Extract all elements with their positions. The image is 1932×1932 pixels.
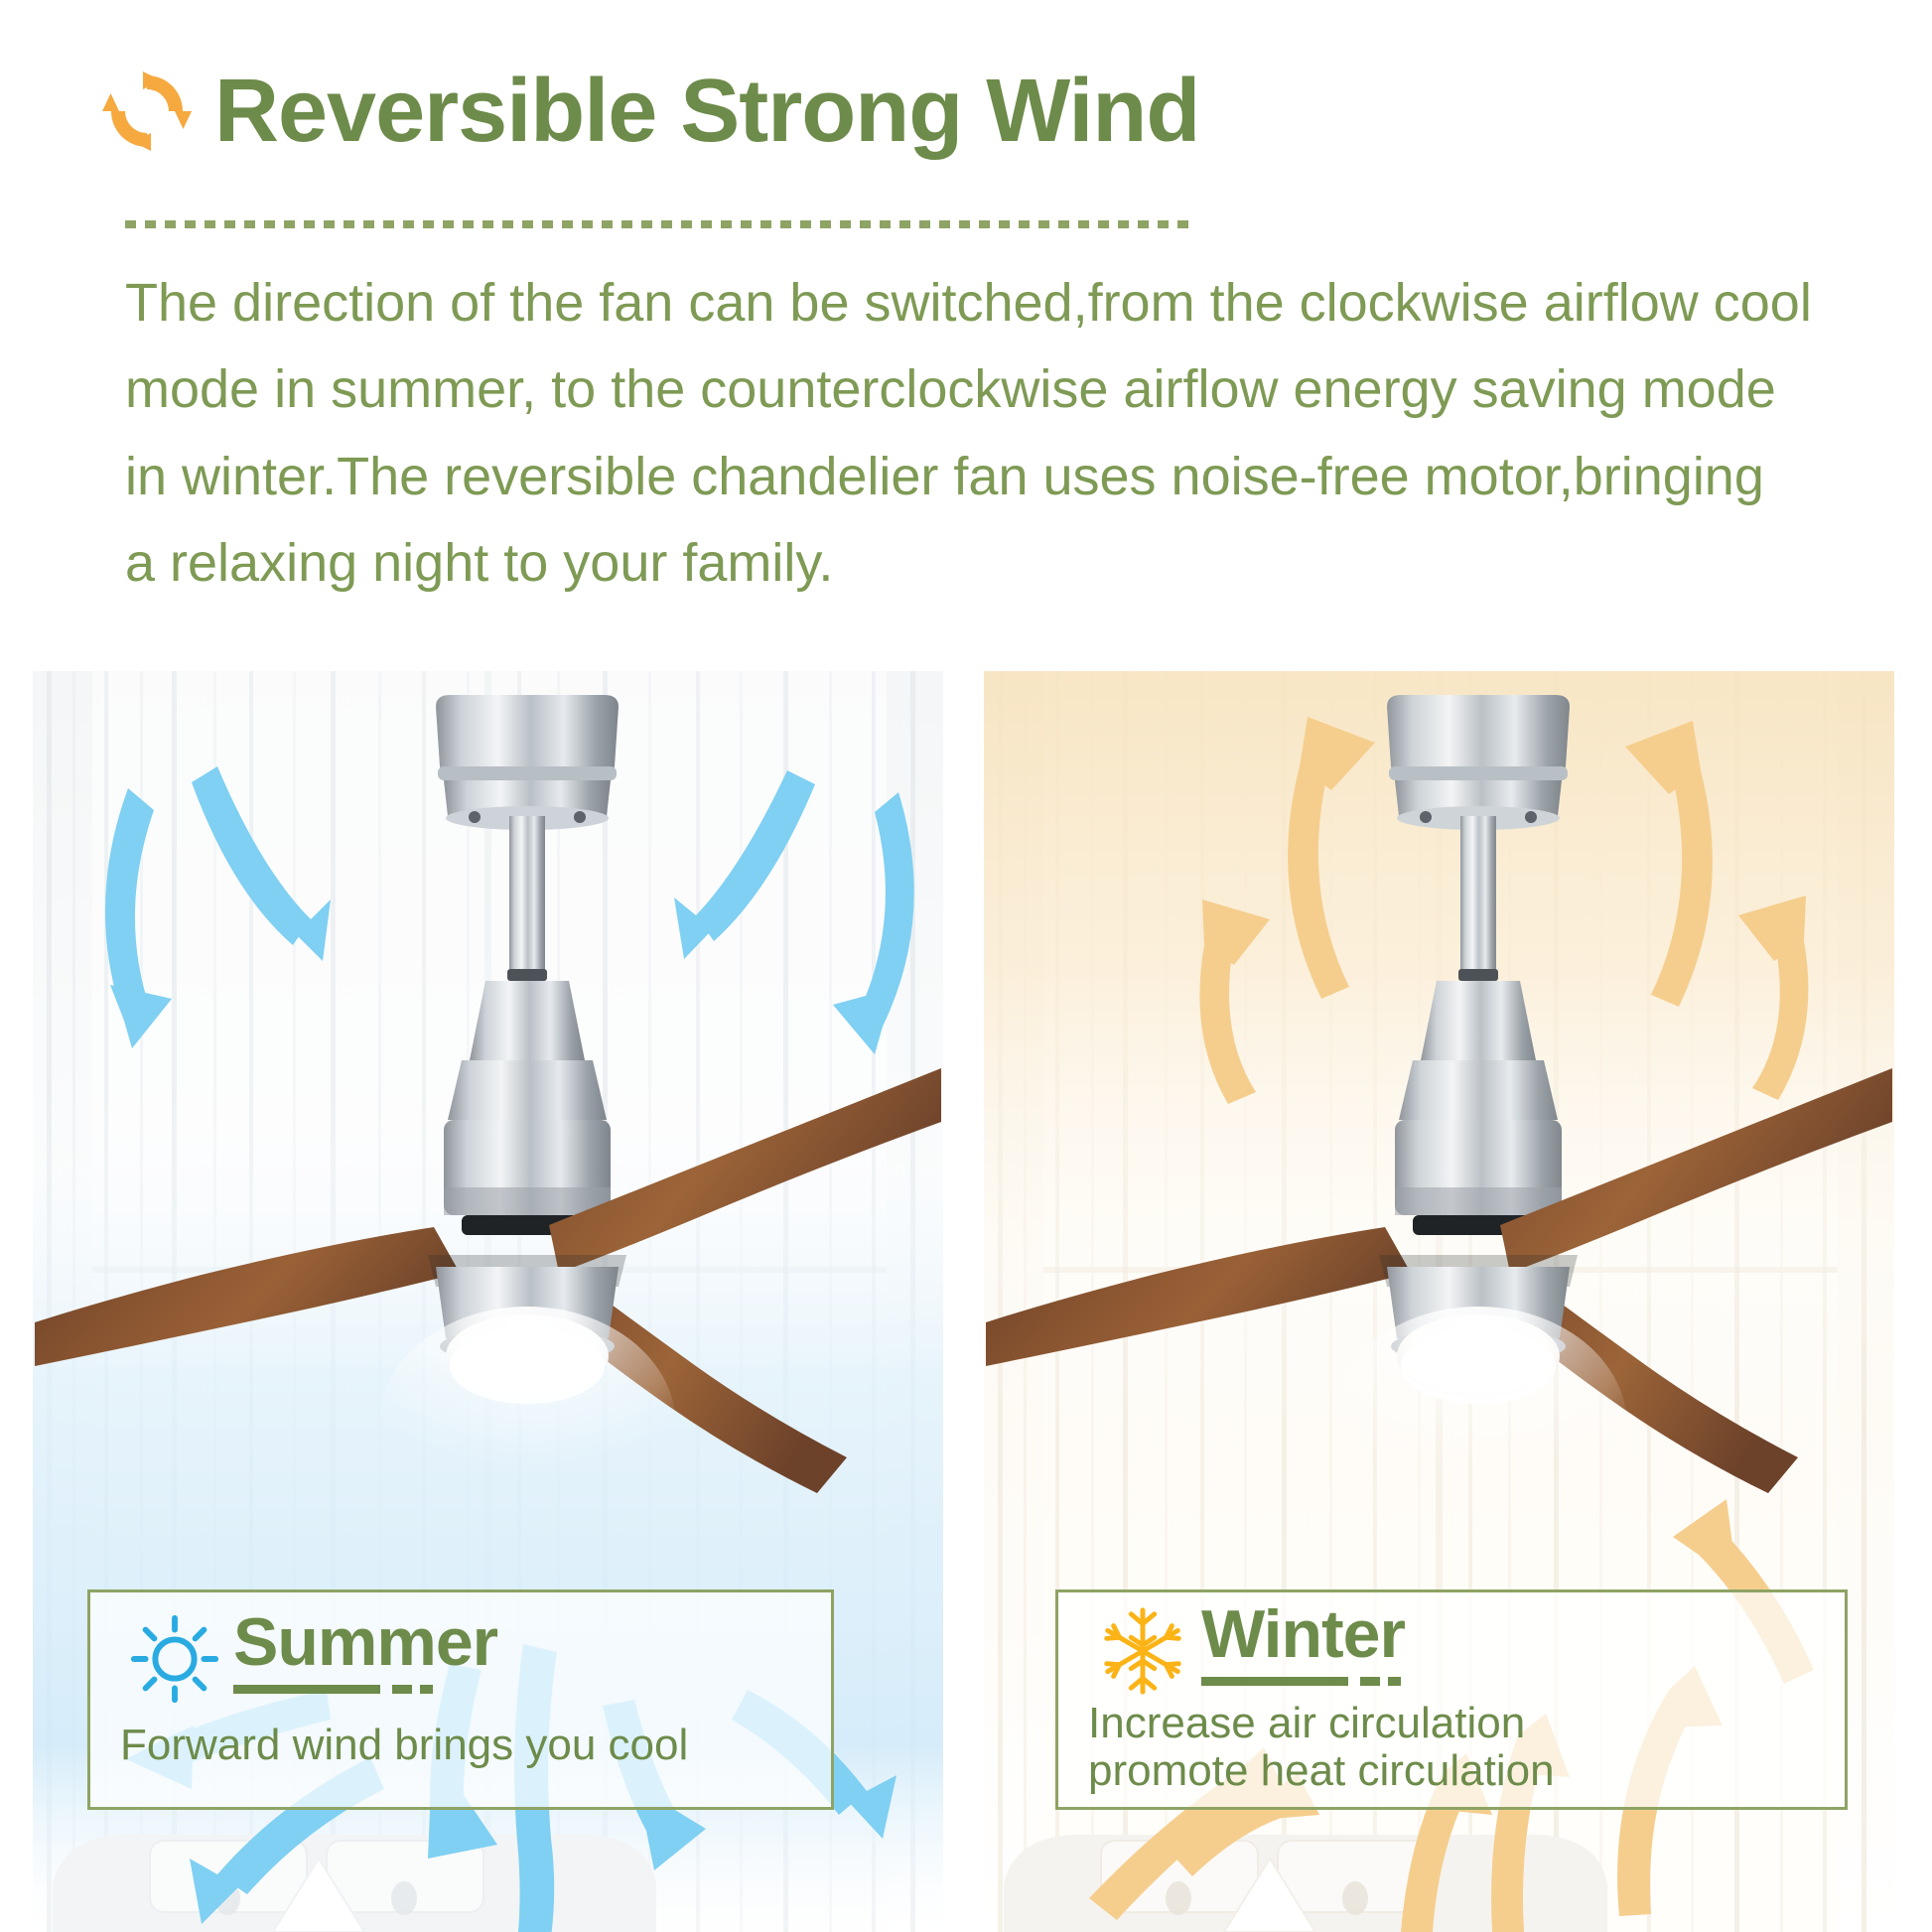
summer-title-rule [233,1685,437,1694]
winter-caption-header: Winter [1058,1592,1845,1700]
winter-subtitle: Increase air circulation promote heat ci… [1058,1700,1845,1794]
snowflake-icon [1094,1602,1191,1700]
page-title: Reversible Strong Wind [214,67,1199,156]
winter-caption-box: Winter Increase air circulation promote … [1055,1589,1848,1810]
description-line-1: The direction of the fan can be switched… [125,260,1813,346]
description-line-4: a relaxing night to your family. [125,520,1813,607]
header-description: The direction of the fan can be switched… [125,260,1813,608]
description-line-2: mode in summer, to the counterclockwise … [125,346,1813,433]
winter-subtitle-line-2: promote heat circulation [1088,1747,1845,1795]
sun-icon [126,1610,223,1708]
summer-heading-group: Summer [233,1610,497,1694]
header-section: Reversible Strong Wind The direction of … [0,0,1932,673]
summer-caption-box: Summer Forward wind brings you cool [87,1589,834,1810]
summer-caption-header: Summer [90,1592,831,1708]
summer-title: Summer [233,1610,497,1675]
winter-heading-group: Winter [1201,1602,1405,1686]
winter-title-rule [1201,1677,1405,1686]
header-divider [125,220,1192,228]
summer-subtitle-line-1: Forward wind brings you cool [120,1722,831,1769]
reversible-refresh-icon [97,62,197,161]
winter-title: Winter [1201,1602,1405,1667]
description-line-3: in winter.The reversible chandelier fan … [125,434,1813,520]
summer-subtitle: Forward wind brings you cool [90,1708,831,1769]
page-title-row: Reversible Strong Wind [97,52,1199,171]
winter-subtitle-line-1: Increase air circulation [1088,1700,1845,1747]
sofa [53,1835,656,1932]
